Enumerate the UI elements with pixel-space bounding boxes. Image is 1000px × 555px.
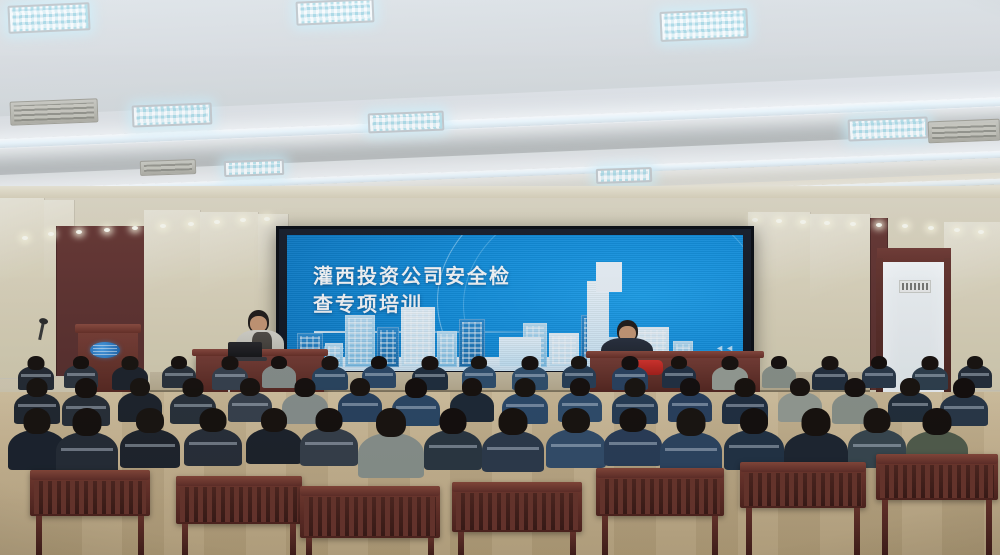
audience-head bbox=[73, 408, 102, 436]
audience-head bbox=[735, 378, 756, 397]
chair-leg bbox=[746, 508, 752, 555]
chair-leg bbox=[458, 532, 464, 555]
audience-member bbox=[546, 408, 606, 468]
audience-member bbox=[660, 408, 722, 474]
recessed-downlight-icon bbox=[928, 226, 934, 230]
audience-head bbox=[771, 356, 787, 369]
chair-leg bbox=[602, 516, 608, 555]
slide-divider-rule bbox=[314, 331, 529, 333]
audience-torso bbox=[482, 431, 544, 472]
audience-head bbox=[350, 378, 370, 396]
slide-title-line2: 查专项培训 bbox=[313, 291, 563, 319]
audience-head bbox=[376, 408, 406, 437]
uniform-reflective-stripe bbox=[853, 444, 902, 447]
audience-torso bbox=[604, 428, 662, 466]
audience-head bbox=[680, 378, 700, 396]
uniform-reflective-stripe bbox=[915, 374, 945, 377]
uniform-reflective-stripe bbox=[21, 374, 51, 377]
chair-backrest bbox=[596, 468, 724, 478]
chair-leg bbox=[138, 516, 144, 555]
audience-chair[interactable] bbox=[30, 470, 150, 516]
uniform-reflective-stripe bbox=[61, 448, 113, 451]
recessed-downlight-icon bbox=[214, 220, 220, 224]
uniform-reflective-stripe bbox=[892, 403, 929, 406]
audience-head bbox=[222, 356, 239, 370]
recessed-downlight-icon bbox=[104, 228, 110, 232]
uniform-reflective-stripe bbox=[562, 403, 599, 406]
chair-backrest bbox=[300, 486, 440, 496]
recessed-downlight-icon bbox=[824, 221, 830, 225]
uniform-reflective-stripe bbox=[487, 447, 539, 450]
recessed-downlight-icon bbox=[978, 230, 984, 234]
uniform-reflective-stripe bbox=[232, 403, 269, 406]
audience-head bbox=[136, 408, 164, 433]
uniform-reflective-stripe bbox=[465, 373, 494, 376]
ceiling-air-vent-icon bbox=[928, 119, 1000, 144]
ceiling-lamp-icon bbox=[659, 8, 748, 42]
chair-leg bbox=[182, 524, 188, 555]
uniform-reflective-stripe bbox=[315, 374, 345, 377]
chair-leg bbox=[712, 516, 718, 555]
audience-member bbox=[246, 408, 302, 464]
chair-backrest bbox=[30, 470, 150, 480]
audience-head bbox=[671, 356, 687, 369]
audience-member bbox=[120, 408, 180, 468]
chair-backrest bbox=[740, 462, 866, 472]
chair-backrest bbox=[452, 482, 582, 492]
audience-head bbox=[322, 356, 339, 370]
ceiling-air-vent-icon bbox=[10, 98, 99, 125]
audience-head bbox=[73, 356, 89, 369]
audience-head bbox=[75, 378, 97, 398]
uniform-reflective-stripe bbox=[506, 404, 545, 407]
uniform-reflective-stripe bbox=[429, 445, 478, 448]
chair-leg bbox=[290, 524, 296, 555]
audience-head bbox=[570, 378, 590, 396]
chair-slats bbox=[34, 481, 146, 514]
ceiling-lamp-icon bbox=[224, 159, 285, 177]
uniform-reflective-stripe bbox=[665, 373, 694, 376]
audience-head bbox=[240, 378, 260, 396]
conference-room-photo: 灌西投资公司安全检 查专项培训 汇报人：李 10 ◄◄ bbox=[0, 0, 1000, 555]
ceiling-lamp-icon bbox=[848, 116, 929, 141]
uniform-reflective-stripe bbox=[865, 373, 894, 376]
audience-head bbox=[422, 356, 439, 370]
audience-head bbox=[871, 356, 887, 369]
audience-head bbox=[677, 408, 706, 436]
audience-head bbox=[122, 356, 139, 370]
audience-member bbox=[184, 408, 242, 466]
audience-head bbox=[130, 378, 150, 396]
audience-head bbox=[405, 378, 427, 398]
wall-plaque-sign bbox=[899, 280, 931, 293]
audience-torso bbox=[358, 433, 424, 478]
uniform-reflective-stripe bbox=[726, 404, 765, 407]
ceiling-air-vent-icon bbox=[140, 159, 196, 176]
uniform-reflective-stripe bbox=[609, 442, 658, 445]
chair-slats bbox=[880, 465, 994, 498]
uniform-reflective-stripe bbox=[125, 444, 175, 447]
uniform-reflective-stripe bbox=[365, 373, 394, 376]
audience-chair[interactable] bbox=[452, 482, 582, 532]
chair-leg bbox=[854, 508, 860, 555]
ceiling-lamp-icon bbox=[368, 111, 445, 134]
audience-torso bbox=[300, 428, 358, 466]
slide-title: 灌西投资公司安全检 查专项培训 bbox=[313, 263, 563, 320]
audience-chair[interactable] bbox=[596, 468, 724, 516]
audience-member bbox=[56, 408, 118, 474]
uniform-reflective-stripe bbox=[342, 403, 379, 406]
chair-leg bbox=[986, 500, 992, 555]
chair-leg bbox=[570, 532, 576, 555]
audience-head bbox=[922, 356, 939, 370]
recessed-downlight-icon bbox=[48, 232, 54, 236]
uniform-reflective-stripe bbox=[616, 404, 655, 407]
recessed-downlight-icon bbox=[240, 218, 246, 222]
audience-head bbox=[967, 356, 983, 369]
chair-slats bbox=[600, 479, 720, 514]
uniform-reflective-stripe bbox=[672, 403, 709, 406]
audience-head bbox=[722, 356, 739, 370]
recessed-downlight-icon bbox=[76, 230, 82, 234]
chair-backrest bbox=[876, 454, 998, 464]
ceiling bbox=[0, 0, 1000, 215]
audience-chair[interactable] bbox=[876, 454, 998, 500]
audience-chair[interactable] bbox=[300, 486, 440, 538]
audience-head bbox=[271, 356, 287, 369]
audience-member bbox=[300, 408, 358, 466]
uniform-reflective-stripe bbox=[815, 374, 845, 377]
audience-head bbox=[620, 408, 647, 432]
audience-head bbox=[900, 378, 920, 396]
uniform-reflective-stripe bbox=[174, 404, 213, 407]
uniform-reflective-stripe bbox=[18, 404, 57, 407]
audience-torso bbox=[546, 429, 606, 468]
recessed-downlight-icon bbox=[22, 236, 28, 240]
uniform-reflective-stripe bbox=[551, 444, 601, 447]
recessed-downlight-icon bbox=[800, 220, 806, 224]
audience-head bbox=[923, 408, 952, 435]
audience-member bbox=[358, 408, 424, 478]
audience-head bbox=[261, 408, 287, 432]
audience-head bbox=[24, 408, 51, 434]
audience-torso bbox=[56, 432, 118, 474]
ceiling-lamp-icon bbox=[296, 0, 375, 26]
lectern-top bbox=[75, 324, 141, 333]
audience-head bbox=[822, 356, 839, 370]
audience-chair[interactable] bbox=[740, 462, 866, 508]
chair-slats bbox=[180, 487, 298, 522]
audience-head bbox=[183, 378, 204, 397]
ceiling-lamp-icon bbox=[596, 167, 652, 184]
chair-leg bbox=[882, 500, 888, 555]
slide-title-line1: 灌西投资公司安全检 bbox=[313, 263, 563, 291]
recessed-downlight-icon bbox=[188, 222, 194, 226]
uniform-reflective-stripe bbox=[67, 373, 96, 376]
chair-slats bbox=[456, 493, 578, 530]
uniform-reflective-stripe bbox=[305, 442, 354, 445]
audience-head bbox=[295, 378, 316, 397]
uniform-reflective-stripe bbox=[215, 374, 245, 377]
audience-head bbox=[200, 408, 227, 432]
chair-leg bbox=[428, 538, 434, 555]
audience-head bbox=[462, 378, 482, 396]
uniform-reflective-stripe bbox=[729, 445, 779, 448]
recessed-downlight-icon bbox=[902, 224, 908, 228]
audience-head bbox=[28, 356, 45, 370]
recessed-downlight-icon bbox=[954, 228, 960, 232]
ceiling-lamp-icon bbox=[132, 102, 213, 127]
uniform-reflective-stripe bbox=[615, 374, 645, 377]
audience-head bbox=[515, 378, 536, 397]
audience-head bbox=[740, 408, 768, 434]
audience-torso bbox=[120, 429, 180, 468]
chair-slats bbox=[744, 473, 862, 506]
audience-head bbox=[790, 378, 810, 396]
audience-head bbox=[522, 356, 539, 370]
audience-torso bbox=[424, 430, 482, 470]
recessed-downlight-icon bbox=[264, 217, 270, 221]
recessed-downlight-icon bbox=[876, 223, 882, 227]
audience-head bbox=[625, 378, 646, 397]
wall-cornice bbox=[0, 186, 1000, 198]
chair-leg bbox=[36, 516, 42, 555]
audience-head bbox=[471, 356, 487, 369]
audience-member bbox=[482, 408, 544, 472]
chair-leg bbox=[306, 538, 312, 555]
recessed-downlight-icon bbox=[850, 222, 856, 226]
audience-head bbox=[171, 356, 187, 369]
uniform-reflective-stripe bbox=[565, 373, 594, 376]
audience-head bbox=[802, 408, 831, 436]
ceiling-lamp-icon bbox=[7, 2, 90, 34]
audience-head bbox=[864, 408, 891, 433]
audience-head bbox=[845, 378, 866, 397]
recessed-downlight-icon bbox=[752, 218, 758, 222]
uniform-reflective-stripe bbox=[415, 374, 445, 377]
audience-head bbox=[622, 356, 639, 370]
chair-backrest bbox=[176, 476, 302, 486]
audience-member bbox=[424, 408, 482, 470]
audience-head bbox=[499, 408, 528, 435]
chair-slats bbox=[304, 497, 436, 536]
audience-member bbox=[724, 408, 784, 470]
uniform-reflective-stripe bbox=[961, 373, 990, 376]
audience-head bbox=[953, 378, 975, 398]
audience-chair[interactable] bbox=[176, 476, 302, 524]
audience-head bbox=[562, 408, 590, 433]
recessed-downlight-icon bbox=[776, 219, 782, 223]
recessed-downlight-icon bbox=[132, 226, 138, 230]
slide-paper-element bbox=[596, 262, 622, 292]
audience-head bbox=[571, 356, 587, 369]
audience-member bbox=[604, 408, 662, 466]
uniform-reflective-stripe bbox=[189, 442, 238, 445]
audience-torso bbox=[184, 428, 242, 466]
uniform-reflective-stripe bbox=[165, 373, 194, 376]
audience-torso bbox=[246, 428, 302, 464]
audience-head bbox=[27, 378, 48, 397]
uniform-reflective-stripe bbox=[665, 448, 717, 451]
uniform-reflective-stripe bbox=[515, 374, 545, 377]
audience-head bbox=[371, 356, 387, 369]
recessed-downlight-icon bbox=[160, 224, 166, 228]
audience-head bbox=[440, 408, 467, 434]
audience-head bbox=[316, 408, 343, 432]
